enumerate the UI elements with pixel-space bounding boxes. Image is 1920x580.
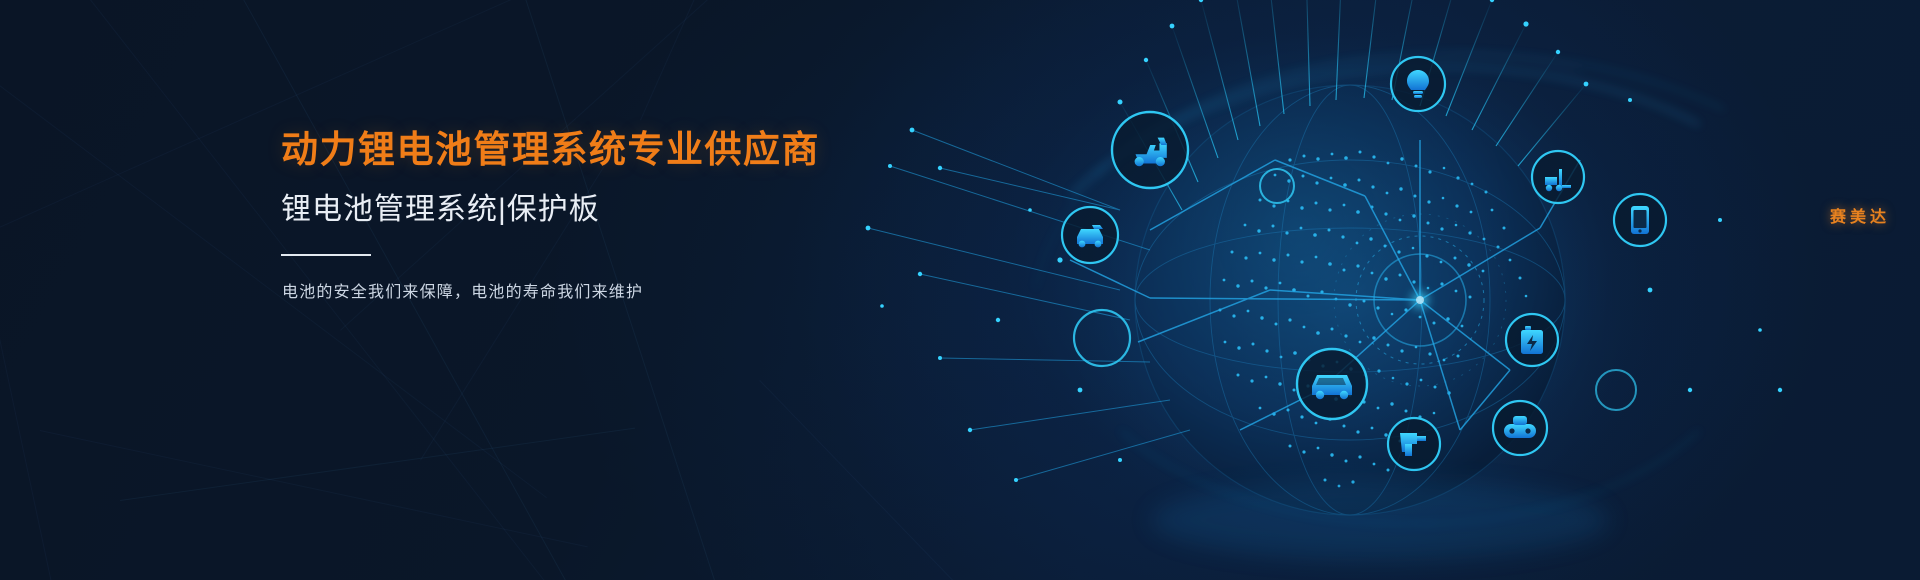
node-forklift (1532, 151, 1584, 203)
hero-subtitle: 锂电池管理系统|保护板 (281, 192, 901, 228)
node-scooter (1112, 112, 1188, 188)
node-car-front (1062, 207, 1118, 263)
hero-tagline: 电池的安全我们来保障，电池的寿命我们来维护 (282, 278, 901, 302)
hero-banner: 动力锂电池管理系统专业供应商 锂电池管理系统|保护板 电池的安全我们来保障，电池… (0, 0, 1920, 580)
divider (281, 254, 371, 256)
node-lightbulb (1391, 57, 1445, 111)
brand-label: 赛美达 (1830, 203, 1890, 227)
globe-graphic: 赛美达 (820, 0, 1920, 580)
node-battery (1506, 314, 1558, 366)
node-robot (1493, 401, 1547, 455)
node-phone (1614, 194, 1666, 246)
hero-copy: 动力锂电池管理系统专业供应商 锂电池管理系统|保护板 电池的安全我们来保障，电池… (281, 128, 901, 302)
page-title: 动力锂电池管理系统专业供应商 (281, 128, 901, 172)
node-drill (1388, 418, 1440, 470)
node-car (1297, 349, 1367, 419)
